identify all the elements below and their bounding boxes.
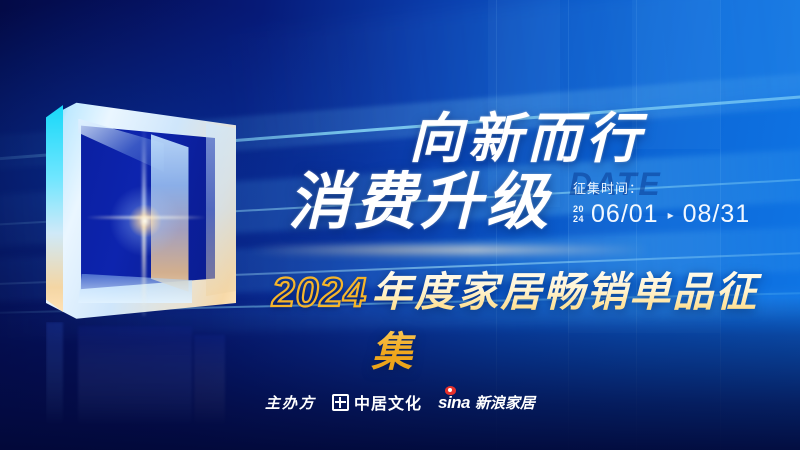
sina-wordmark: sina xyxy=(438,393,470,413)
organizer-name: 中居文化 xyxy=(354,390,422,414)
vertical-panel-block-2 xyxy=(632,0,720,149)
reflection-left-edge xyxy=(46,322,63,432)
date-block: DATE 征集时间： 20 24 06/01 ▸ 08/31 xyxy=(573,178,788,227)
zhongju-square-logo-icon xyxy=(332,394,349,411)
date-label: 征集时间： xyxy=(573,178,788,197)
date-separator-icon: ▸ xyxy=(666,208,676,222)
reflection-right-edge xyxy=(194,335,224,432)
headline-line-1: 向新而行 xyxy=(409,112,645,166)
media-name: 新浪家居 xyxy=(475,392,535,413)
door-portal-graphic xyxy=(46,96,236,321)
date-end: 08/31 xyxy=(683,202,751,227)
media-logo[interactable]: sina 新浪家居 xyxy=(438,392,535,413)
reflection-inner xyxy=(78,326,192,432)
sina-eye-logo-icon xyxy=(445,386,456,395)
sponsor-label: 主办方 xyxy=(265,392,316,413)
subtitle-text: 年度家居畅销单品征集 xyxy=(371,258,800,378)
door-left-edge-glow xyxy=(46,105,63,312)
light-star-burst-icon xyxy=(108,184,182,258)
date-year: 20 24 xyxy=(573,205,584,224)
subtitle-year: 2024 xyxy=(272,269,367,316)
date-start: 06/01 xyxy=(591,202,659,227)
subtitle-glow xyxy=(250,246,720,254)
door-right-face xyxy=(206,123,236,296)
date-range-row: 20 24 06/01 ▸ 08/31 xyxy=(573,202,788,227)
door-reflection xyxy=(46,322,236,432)
organizer-logo[interactable]: 中居文化 xyxy=(332,390,422,414)
sponsor-bar: 主办方 中居文化 sina 新浪家居 xyxy=(0,390,800,414)
date-year-bottom: 24 xyxy=(573,215,584,225)
headline-line-2: 消费升级 xyxy=(288,172,552,234)
promo-banner: 向新而行 消费升级 DATE 征集时间： 20 24 06/01 ▸ 08/31… xyxy=(0,0,800,450)
subtitle-line: 2024 年度家居畅销单品征集 xyxy=(272,258,800,378)
